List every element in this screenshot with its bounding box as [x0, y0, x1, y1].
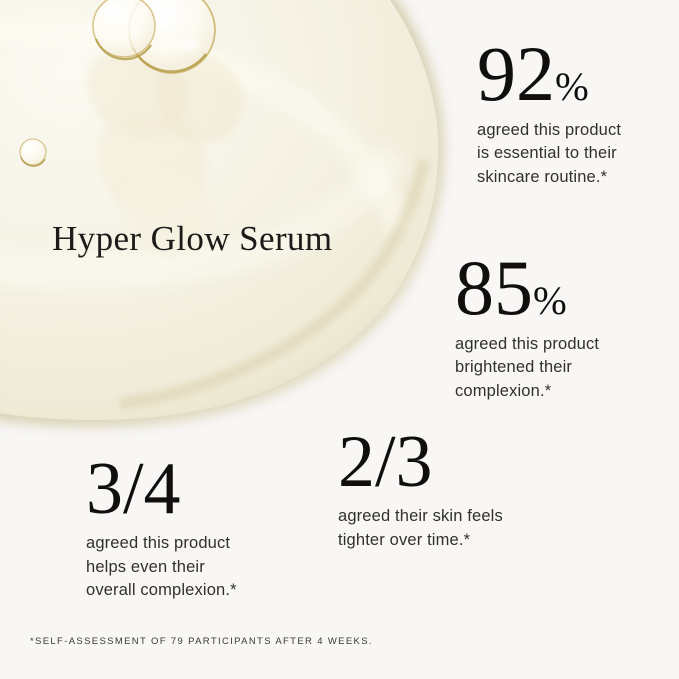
percent-sign: % — [533, 278, 566, 323]
product-title: Hyper Glow Serum — [52, 219, 333, 259]
bubble-large-left — [93, 0, 155, 59]
serum-droplet-blob — [0, 0, 444, 427]
stat-figure-85: 85% — [455, 252, 599, 324]
stat-block-85-percent: 85% agreed this product brightened their… — [455, 252, 599, 403]
stat-value: 92 — [477, 30, 555, 117]
stat-block-92-percent: 92% agreed this product is essential to … — [477, 38, 621, 189]
bubble-small — [20, 139, 46, 166]
stat-figure-three-quarters: 3/4 — [86, 455, 237, 523]
stat-copy-three-quarters: agreed this product helps even their ove… — [86, 532, 237, 602]
stat-block-three-quarters: 3/4 agreed this product helps even their… — [86, 455, 237, 602]
stat-block-two-thirds: 2/3 agreed their skin feels tighter over… — [338, 428, 503, 552]
stat-copy-92: agreed this product is essential to thei… — [477, 119, 621, 189]
stat-figure-two-thirds: 2/3 — [338, 428, 503, 496]
stat-value: 85 — [455, 244, 533, 331]
footnote-disclaimer: *SELF-ASSESSMENT OF 79 PARTICIPANTS AFTE… — [30, 636, 373, 647]
percent-sign: % — [555, 64, 588, 109]
bubble-large-right — [129, 0, 215, 73]
stat-copy-two-thirds: agreed their skin feels tighter over tim… — [338, 505, 503, 552]
stat-copy-85: agreed this product brightened their com… — [455, 333, 599, 403]
product-stats-graphic: Hyper Glow Serum 92% agreed this product… — [0, 0, 679, 679]
stat-figure-92: 92% — [477, 38, 621, 110]
